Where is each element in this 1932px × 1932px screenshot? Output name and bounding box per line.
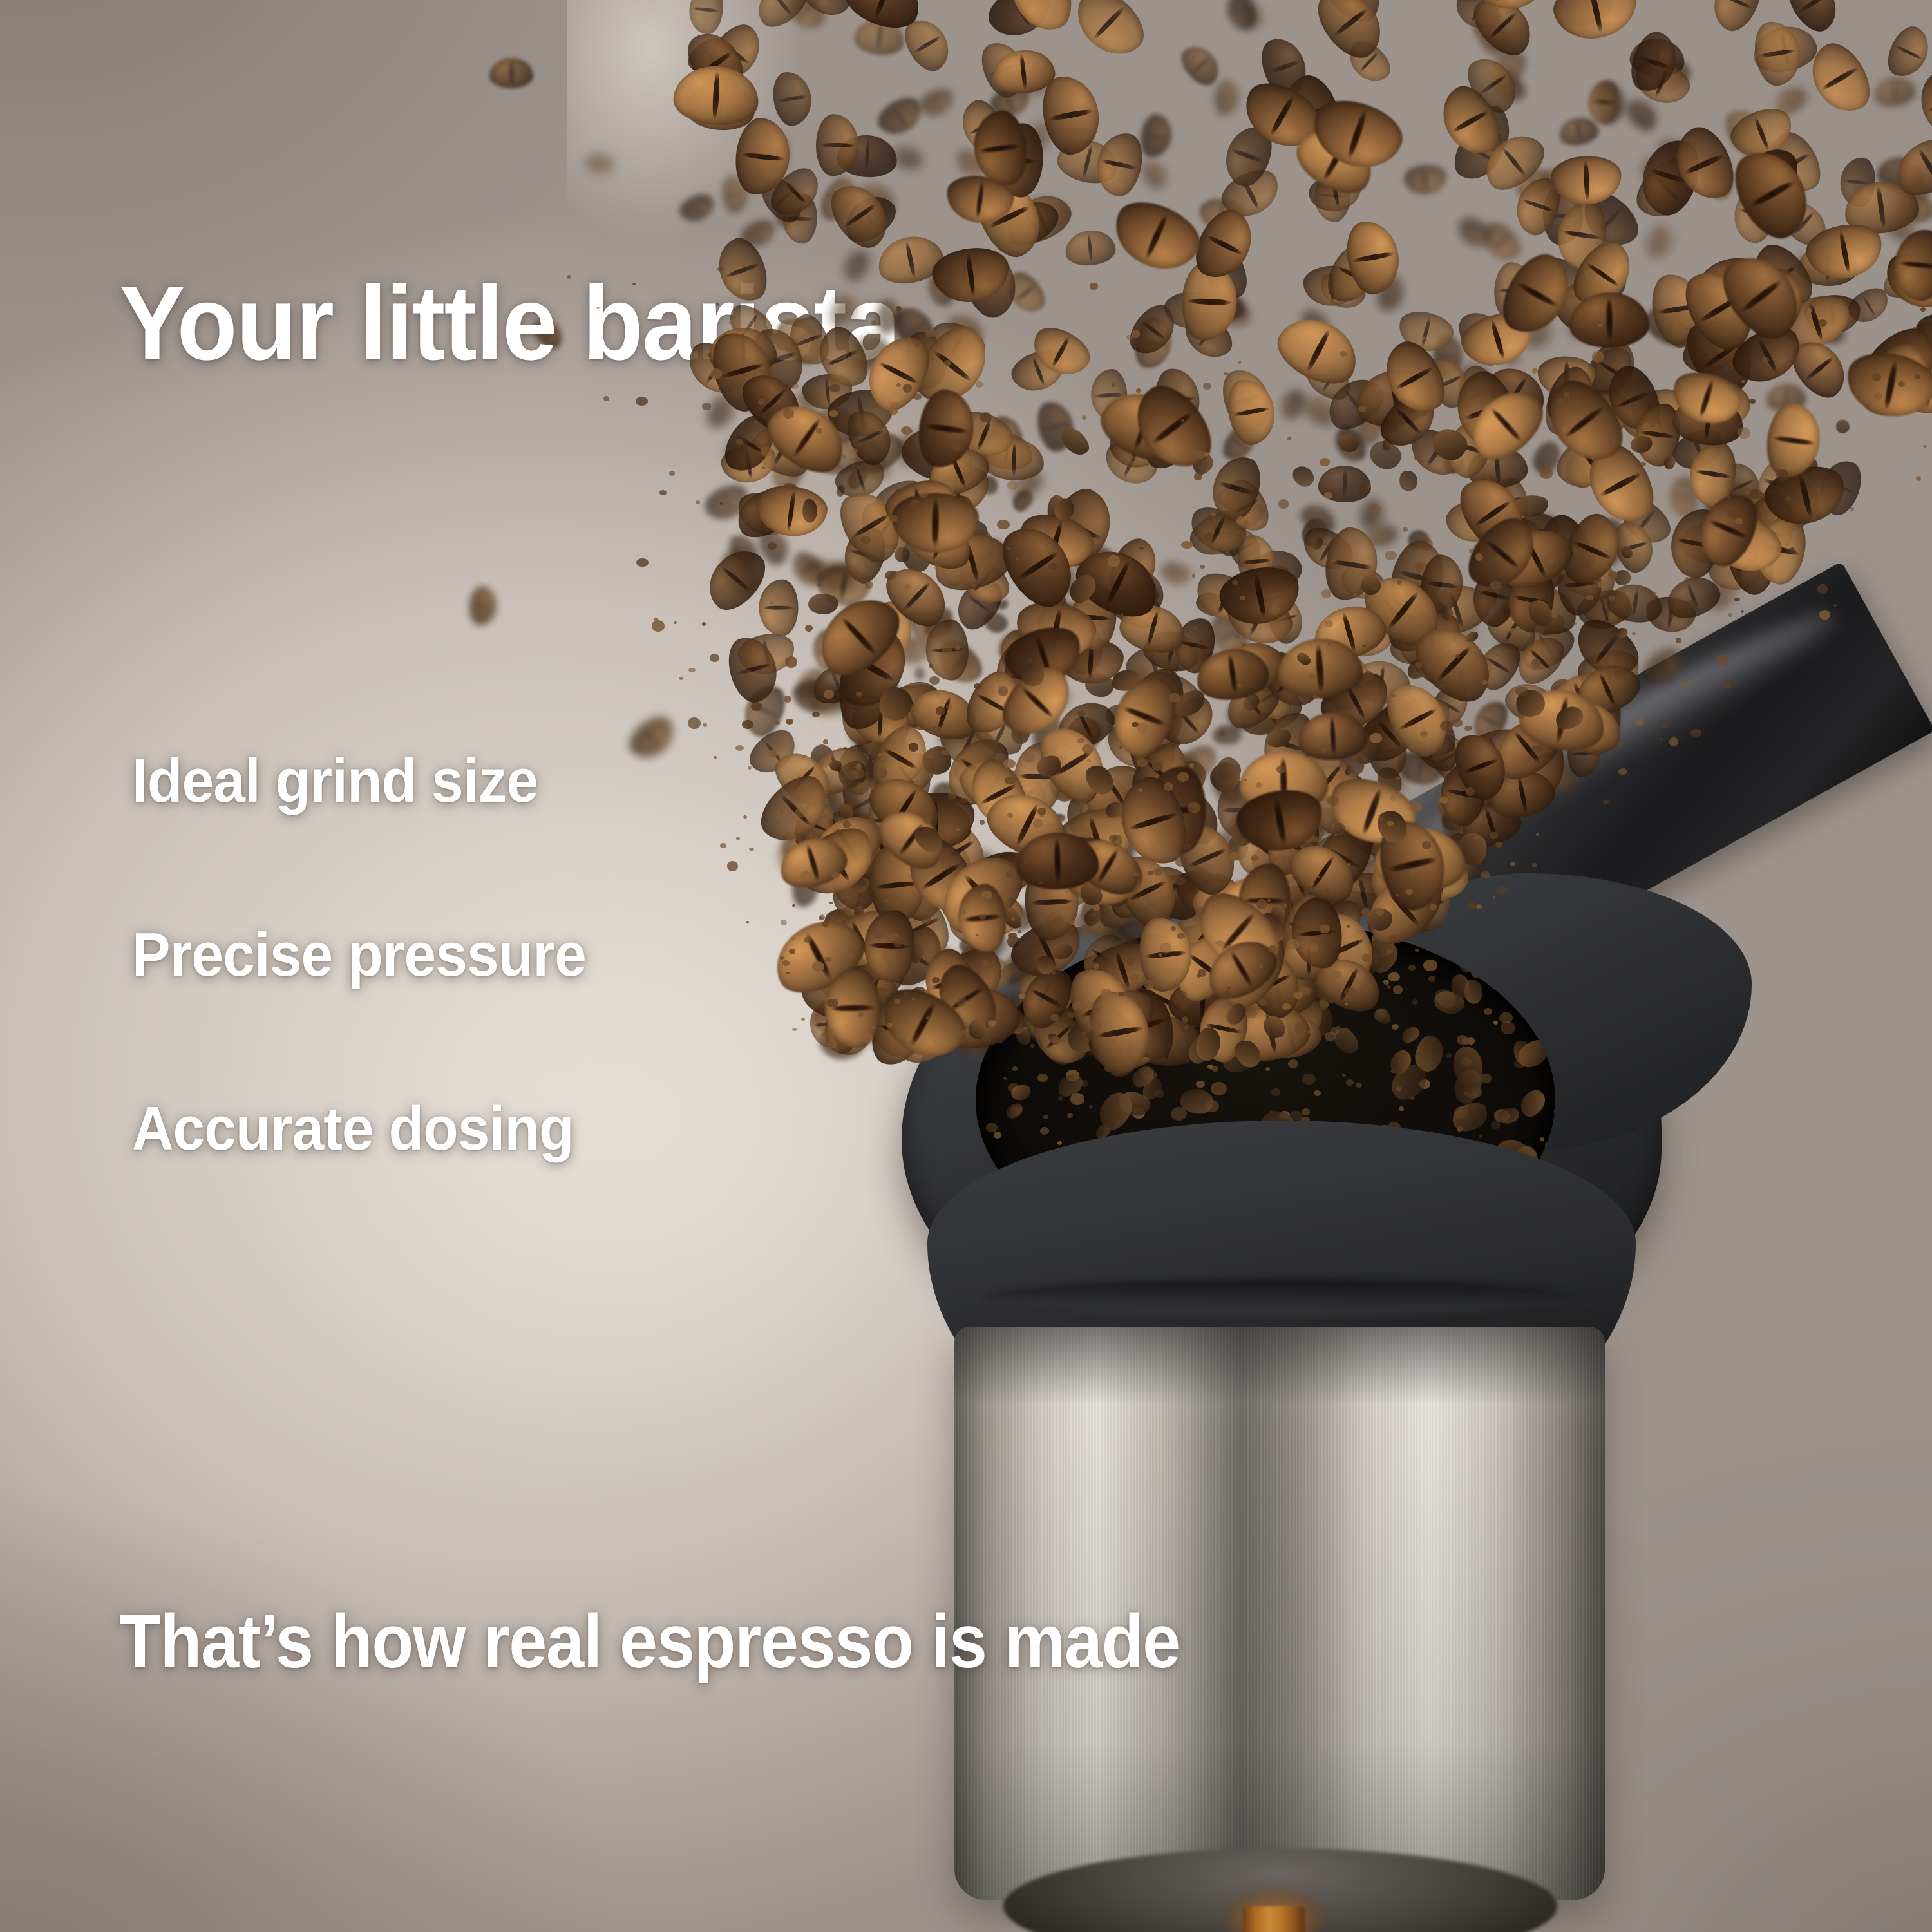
coffee-ground-particle [1653,592,1657,596]
coffee-ground-particle [1198,969,1206,977]
coffee-ground-particle [1340,351,1347,357]
coffee-ground-particle [1376,908,1384,916]
coffee-bean [672,64,760,128]
coffee-ground-particle [1392,694,1395,697]
coffee-ground-particle [1399,1106,1404,1111]
coffee-ground-particle [1033,819,1043,828]
coffee-ground-particle [963,911,966,914]
coffee-ground-particle [1003,759,1016,768]
coffee-ground-particle [1132,330,1140,338]
coffee-ground-particle [951,994,956,998]
coffee-ground-particle [1586,595,1593,600]
coffee-ground-particle [1229,990,1236,995]
coffee-bean [1880,21,1932,84]
coffee-ground-particle [1363,645,1366,647]
coffee-ground-particle [1177,933,1184,939]
coffee-ground-particle [1137,759,1148,766]
coffee-ground-particle [1502,742,1506,745]
coffee-ground-particle [1082,415,1086,420]
coffee-ground-particle [1723,681,1731,688]
coffee-ground-particle [1169,693,1179,702]
coffee-ground-particle [1554,1106,1555,1119]
coffee-ground-particle [1553,928,1555,938]
coffee-ground-particle [1717,655,1729,665]
coffee-ground-particle [862,1033,873,1043]
coffee-ground-particle [1019,994,1025,999]
coffee-ground-particle [1396,894,1399,896]
coffee-ground-particle [1749,399,1756,404]
coffee-ground-particle [748,766,752,770]
coffee-ground-particle [1258,999,1267,1006]
coffee-ground-particle [1491,1121,1501,1130]
coffee-bean [770,69,815,128]
coffee-ground-particle [1378,816,1383,821]
coffee-ground-particle [1833,604,1837,607]
coffee-ground-particle [1685,577,1690,581]
coffee-ground-particle [1153,868,1162,876]
feature-item-accurate-dosing: Accurate dosing [132,1098,574,1160]
coffee-ground-particle [986,1123,997,1133]
coffee-ground-particle [770,601,773,605]
coffee-ground-particle [1129,455,1134,459]
coffee-ground-particle [1308,673,1316,680]
coffee-ground-particle [831,872,840,878]
coffee-ground-particle [974,683,981,689]
espresso-stream [1243,1906,1305,1932]
coffee-ground-particle [1181,419,1185,422]
coffee-ground-particle [997,520,1010,529]
coffee-ground-particle [654,618,658,621]
coffee-ground-particle [1415,662,1423,668]
coffee-ground-particle [1209,972,1212,975]
coffee-ground-particle [817,583,821,587]
coffee-ground-particle [1311,882,1314,885]
coffee-bean [1278,386,1309,422]
coffee-ground-particle [1439,797,1448,804]
coffee-ground-particle [1174,876,1186,885]
coffee-ground-particle [1432,839,1435,842]
coffee-ground-particle [896,306,902,311]
coffee-ground-particle [1194,473,1202,480]
coffee-grind-chunk [1289,462,1318,490]
coffee-ground-particle [1051,971,1056,975]
feature-item-ideal-grind-size: Ideal grind size [132,750,538,812]
coffee-ground-particle [994,1132,1002,1139]
coffee-ground-particle [1007,813,1013,818]
coffee-ground-particle [1662,721,1669,728]
coffee-ground-particle [1203,383,1211,390]
coffee-ground-particle [1410,870,1415,875]
coffee-bean [687,0,726,35]
coffee-ground-particle [1271,1088,1280,1096]
coffee-ground-particle [1608,571,1618,579]
coffee-ground-particle [1200,565,1204,569]
coffee-ground-particle [1119,992,1124,996]
coffee-ground-particle [1475,553,1483,561]
coffee-ground-particle [1874,392,1883,399]
coffee-ground-particle [1018,930,1021,933]
coffee-ground-particle [761,446,772,457]
coffee-ground-particle [1393,985,1403,994]
coffee-ground-particle [1303,987,1312,995]
coffee-ground-particle [736,837,740,840]
coffee-ground-particle [729,320,734,324]
coffee-ground-particle [1482,680,1488,685]
coffee-ground-particle [1193,627,1197,630]
coffee-ground-particle [956,997,967,1007]
coffee-ground-particle [1130,974,1139,981]
coffee-ground-particle [1003,1077,1007,1080]
coffee-ground-particle [1545,1140,1555,1153]
coffee-ground-particle [1476,904,1481,909]
coffee-ground-particle [1785,496,1792,501]
coffee-ground-particle [1390,935,1397,942]
coffee-ground-particle [1170,876,1174,880]
coffee-ground-particle [1421,538,1433,551]
coffee-ground-particle [858,1012,864,1017]
coffee-ground-particle [1137,723,1149,734]
coffee-ground-particle [842,455,846,459]
coffee-ground-particle [1302,1108,1310,1115]
coffee-ground-particle [1387,985,1390,989]
coffee-ground-particle [1469,549,1473,553]
coffee-ground-particle [896,529,903,534]
coffee-ground-particle [1532,745,1541,753]
coffee-ground-particle [941,750,950,756]
coffee-bean [676,189,718,226]
coffee-grind-chunk [1372,1005,1394,1027]
coffee-grind-chunk [808,593,838,615]
coffee-ground-particle [1287,1034,1294,1039]
coffee-ground-particle [960,798,968,804]
coffee-ground-particle [1005,777,1015,784]
coffee-ground-particle [1235,633,1241,638]
coffee-ground-particle [1535,625,1545,634]
coffee-ground-particle [899,1039,906,1045]
coffee-ground-particle [1322,542,1327,545]
coffee-ground-particle [823,739,828,744]
coffee-ground-particle [1819,610,1830,620]
coffee-ground-particle [1152,762,1163,770]
coffee-bean [1403,163,1448,196]
coffee-ground-particle [1544,556,1554,563]
coffee-ground-particle [1481,923,1496,936]
coffee-ground-particle [1603,800,1609,804]
coffee-ground-particle [1313,695,1318,699]
coffee-ground-particle [1385,551,1397,560]
coffee-ground-particle [1481,871,1490,878]
coffee-ground-particle [873,929,884,938]
coffee-ground-particle [1203,533,1213,542]
coffee-grind-chunk [1516,1086,1549,1121]
coffee-ground-particle [787,833,797,842]
coffee-ground-particle [1211,1082,1227,1095]
coffee-ground-particle [824,690,834,699]
coffee-ground-particle [1132,722,1138,727]
coffee-ground-particle [1484,1008,1492,1015]
coffee-ground-particle [1211,904,1215,907]
coffee-ground-particle [702,622,706,626]
coffee-ground-particle [1089,1105,1094,1109]
coffee-ground-particle [932,977,940,983]
coffee-ground-particle [1342,1074,1346,1077]
coffee-ground-particle [1923,445,1927,448]
coffee-ground-particle [1916,476,1921,481]
coffee-ground-particle [1687,600,1696,608]
coffee-ground-particle [1493,1021,1498,1025]
coffee-bean [1213,79,1241,117]
coffee-ground-particle [792,1028,797,1032]
coffee-ground-particle [1361,908,1370,916]
coffee-ground-particle [1282,1003,1290,1010]
coffee-ground-particle [1898,381,1905,387]
coffee-ground-particle [1358,406,1366,413]
coffee-ground-particle [1321,589,1331,598]
coffee-ground-particle [786,719,794,724]
coffee-ground-particle [1501,1021,1515,1034]
coffee-grind-chunk [914,667,925,681]
coffee-ground-particle [1353,593,1357,597]
coffee-ground-particle [1486,973,1499,985]
coffee-ground-particle [1440,721,1453,731]
coffee-ground-particle [1423,960,1437,971]
coffee-ground-particle [976,381,983,388]
coffee-ground-particle [1112,835,1122,846]
coffee-ground-particle [1090,283,1097,290]
coffee-ground-particle [1495,654,1498,656]
coffee-ground-particle [727,861,738,871]
coffee-ground-particle [1077,738,1084,743]
coffee-ground-particle [792,904,795,907]
coffee-ground-particle [717,267,724,272]
coffee-ground-particle [933,726,941,733]
coffee-ground-particle [992,739,999,746]
coffee-ground-particle [1101,922,1104,924]
coffee-ground-particle [795,808,806,818]
coffee-ground-particle [922,916,931,925]
coffee-ground-particle [1012,1066,1018,1070]
coffee-ground-particle [871,1026,876,1030]
coffee-ground-particle [860,536,871,543]
coffee-ground-particle [743,815,747,819]
coffee-ground-particle [1872,373,1881,381]
coffee-ground-particle [857,959,865,965]
coffee-ground-particle [1479,1135,1483,1139]
coffee-ground-particle [1920,307,1925,311]
coffee-bean [1644,223,1676,261]
coffee-ground-particle [856,692,862,697]
coffee-ground-particle [1320,925,1330,934]
coffee-ground-particle [852,769,864,779]
marketing-image-canvas: Your little barista Ideal grind size Pre… [0,0,1932,1932]
coffee-ground-particle [746,921,750,923]
coffee-ground-particle [775,721,781,725]
coffee-ground-particle [792,384,799,389]
coffee-ground-particle [596,307,600,309]
coffee-ground-particle [1058,1096,1063,1101]
coffee-ground-particle [1108,555,1120,567]
coffee-ground-particle [710,654,720,662]
coffee-ground-particle [829,902,833,905]
coffee-bean [1549,0,1643,46]
coffee-bean [759,580,799,636]
coffee-ground-particle [1728,613,1733,617]
coffee-ground-particle [1043,1115,1048,1119]
coffee-ground-particle [1448,567,1455,574]
page-tagline: That’s how real espresso is made [119,1604,1180,1680]
coffee-ground-particle [1412,999,1418,1005]
coffee-ground-particle [789,949,795,954]
coffee-ground-particle [918,488,929,498]
coffee-ground-particle [1164,782,1173,791]
coffee-ground-particle [674,621,677,625]
coffee-ground-particle [567,275,571,279]
coffee-ground-particle [688,668,696,673]
coffee-ground-particle [1052,916,1064,928]
coffee-ground-particle [1428,976,1435,981]
coffee-ground-particle [1616,741,1624,746]
coffee-ground-particle [901,426,912,435]
coffee-ground-particle [1415,949,1419,952]
coffee-ground-particle [826,813,833,819]
coffee-ground-particle [1242,643,1245,647]
coffee-ground-particle [735,745,744,751]
coffee-ground-particle [1632,632,1636,635]
coffee-ground-particle [636,558,649,567]
coffee-ground-particle [801,1018,806,1021]
coffee-ground-particle [1043,861,1052,869]
coffee-ground-particle [603,396,609,401]
coffee-ground-particle [1347,863,1350,866]
coffee-ground-particle [1177,991,1187,1000]
coffee-ground-particle [998,686,1009,696]
coffee-ground-particle [1531,659,1541,668]
coffee-ground-particle [1148,871,1153,875]
coffee-ground-particle [1419,460,1423,463]
coffee-ground-particle [1324,492,1332,498]
coffee-ground-particle [934,564,941,570]
coffee-ground-particle [1741,610,1744,613]
coffee-bean [1064,0,1155,68]
coffee-ground-particle [791,938,795,941]
coffee-ground-particle [1676,638,1681,643]
coffee-ground-particle [703,723,707,727]
coffee-ground-particle [1680,681,1689,690]
coffee-ground-particle [1346,1079,1354,1086]
coffee-ground-particle [1452,719,1462,726]
coffee-ground-particle [1727,509,1739,518]
coffee-ground-particle [1572,622,1577,625]
coffee-bean-stray [585,153,616,176]
coffee-ground-particle [1528,921,1540,931]
coffee-ground-particle [761,466,766,469]
coffee-ground-particle [1065,888,1070,892]
coffee-bean [1913,65,1932,144]
coffee-ground-particle [1749,489,1762,499]
coffee-ground-particle [1182,1016,1188,1023]
coffee-ground-particle [1553,1057,1555,1063]
coffee-ground-particle [1471,965,1486,978]
coffee-ground-particle [1070,920,1075,925]
coffee-ground-particle [710,368,722,379]
coffee-ground-particle [1314,1090,1321,1096]
coffee-ground-particle [714,756,717,759]
coffee-ground-particle [865,581,873,588]
coffee-ground-particle [1499,1012,1512,1023]
coffee-ground-particle [1776,469,1788,481]
coffee-ground-particle [1094,706,1097,708]
coffee-ground-particle [1640,462,1646,466]
coffee-ground-particle [1014,846,1021,853]
coffee-ground-particle [758,399,765,405]
coffee-ground-particle [1072,1001,1083,1011]
coffee-ground-particle [1101,989,1112,998]
coffee-ground-particle [889,515,898,522]
coffee-ground-particle [1510,862,1515,866]
coffee-ground-particle [720,502,723,504]
coffee-ground-particle [1363,671,1374,680]
coffee-ground-particle [942,646,952,655]
coffee-ground-particle [1403,527,1408,532]
coffee-bean [916,84,958,120]
coffee-ground-particle [876,768,887,778]
coffee-ground-particle [1030,1044,1035,1048]
coffee-ground-particle [1481,1074,1492,1083]
coffee-ground-particle [1551,613,1557,618]
coffee-ground-particle [636,397,648,406]
coffee-ground-particle [1196,1081,1204,1088]
coffee-ground-particle [895,728,900,732]
coffee-ground-particle [850,448,858,454]
coffee-ground-particle [1690,729,1701,737]
coffee-bean [1871,74,1917,109]
coffee-ground-particle [878,753,884,757]
coffee-ground-particle [1183,844,1191,850]
coffee-ground-particle [1347,925,1350,928]
coffee-ground-particle [749,848,754,851]
coffee-ground-particle [1133,872,1139,876]
coffee-ground-particle [899,649,903,651]
coffee-ground-particle [1050,1014,1058,1021]
coffee-ground-particle [1589,556,1596,563]
coffee-ground-particle [1372,583,1379,591]
coffee-ground-particle [1288,1059,1298,1068]
coffee-ground-particle [821,1032,829,1037]
coffee-ground-particle [1540,468,1553,478]
coffee-ground-particle [1276,765,1286,773]
coffee-ground-particle [1356,1083,1362,1088]
coffee-ground-particle [1735,518,1743,524]
coffee-ground-particle [982,960,989,967]
coffee-ground-particle [1268,945,1276,953]
coffee-ground-particle [805,625,813,632]
coffee-ground-particle [1915,374,1920,379]
coffee-ground-particle [1077,710,1086,717]
coffee-ground-particle [1007,480,1018,490]
coffee-ground-particle [1302,1074,1316,1085]
coffee-ground-particle [1321,748,1327,753]
coffee-ground-particle [1287,437,1291,440]
coffee-ground-particle [1211,513,1215,516]
coffee-ground-particle [1192,574,1196,578]
coffee-ground-particle [1177,772,1189,781]
coffee-ground-particle [1181,821,1186,826]
coffee-ground-particle [1184,1025,1188,1029]
coffee-ground-particle [1496,886,1508,895]
coffee-ground-particle [1330,1027,1339,1035]
coffee-ground-particle [679,677,683,681]
coffee-ground-particle [1408,965,1416,971]
